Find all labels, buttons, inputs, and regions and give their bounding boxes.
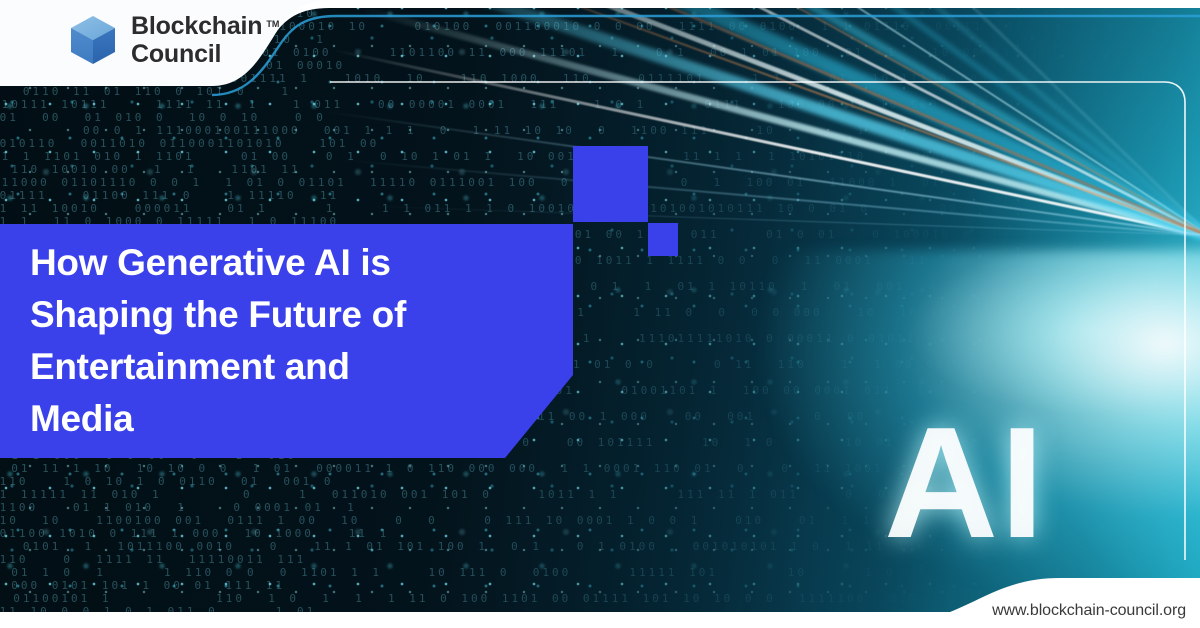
brand-line-2: Council: [131, 40, 262, 68]
site-url[interactable]: www.blockchain-council.org: [992, 602, 1186, 620]
brand-wordmark: Blockchain Council TM: [131, 12, 262, 68]
trademark-mark: TM: [266, 10, 279, 38]
blog-banner: 0 0 01 0 11 0010 1111 0 1 1 11 0 11 1 01…: [0, 0, 1200, 628]
header-accent-curve: [212, 16, 1200, 95]
brand-logo[interactable]: Blockchain Council TM: [68, 12, 262, 68]
decor-square-large: [573, 146, 648, 222]
title-line-4: Media: [30, 393, 530, 445]
decor-square-small: [648, 223, 678, 256]
header-white-shape: Blockchain Council TM: [0, 0, 1200, 150]
title-line-1: How Generative AI is: [30, 237, 530, 289]
brand-line-1: Blockchain: [131, 12, 262, 40]
title-line-3: Entertainment and: [30, 341, 530, 393]
ai-watermark: AI: [884, 404, 1046, 562]
title-line-2: Shaping the Future of: [30, 289, 530, 341]
page-title: How Generative AI is Shaping the Future …: [30, 237, 530, 445]
blockchain-cube-logo-icon: [68, 14, 118, 66]
